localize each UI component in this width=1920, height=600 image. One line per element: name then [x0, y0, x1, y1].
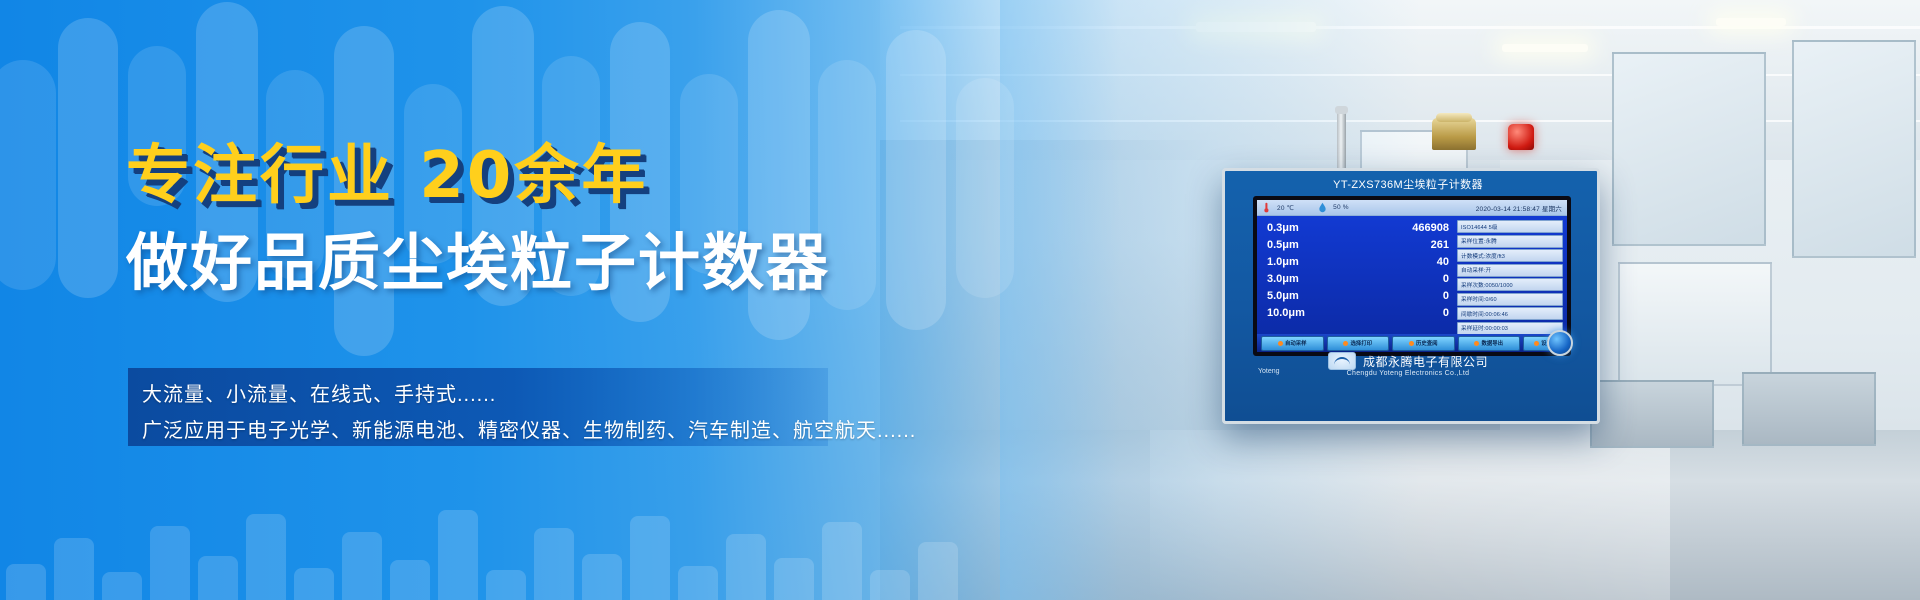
button-label: 数据导出	[1481, 339, 1503, 347]
corridor-window	[1792, 40, 1916, 258]
list-item: 采样延时:00:00:03	[1457, 322, 1563, 335]
floor-vent	[1742, 372, 1876, 446]
particle-size: 3.0μm	[1267, 273, 1299, 285]
subtitle-line-1: 大流量、小流量、在线式、手持式......	[142, 378, 496, 407]
param-text: 计数模式:浓度/ft3	[1461, 252, 1505, 260]
thermometer-icon	[1262, 202, 1271, 213]
subtitle-line-2: 广泛应用于电子光学、新能源电池、精密仪器、生物制药、汽车制造、航空航天.....…	[142, 414, 916, 443]
particle-count: 466908	[1412, 222, 1449, 234]
orange-dot-icon	[1343, 341, 1348, 346]
sensor-probe-tip-icon	[1335, 106, 1348, 114]
button-label: 历史查阅	[1416, 339, 1438, 347]
decorative-equalizer	[0, 480, 1000, 600]
table-row: 3.0μm 0	[1267, 273, 1449, 290]
param-text: 采样次数:0050/1000	[1461, 281, 1513, 289]
button-label: 选择打印	[1350, 339, 1372, 347]
particle-size: 10.0μm	[1267, 307, 1305, 319]
device-parameter-panel: ISO14644 5级 采样位置:永腾 计数模式:浓度/ft3 自动采样:开 采…	[1455, 216, 1567, 334]
humidity-value: 50 %	[1333, 204, 1349, 211]
headline-primary: 专注行业 20余年	[126, 124, 648, 216]
water-drop-icon	[1318, 202, 1327, 213]
data-export-button[interactable]: 数据导出	[1458, 336, 1521, 351]
list-item: ISO14644 5级	[1457, 220, 1563, 233]
param-text: 自动采样:开	[1461, 266, 1491, 274]
list-item: 采样次数:0050/1000	[1457, 278, 1563, 291]
ceiling-lamp-icon	[1502, 44, 1588, 52]
screen-status-bar: 20 ℃ 50 % 2020-03-14 21:58:47 星期六	[1257, 200, 1567, 216]
list-item: 采样时间:0/60	[1457, 293, 1563, 306]
param-text: 采样位置:永腾	[1461, 237, 1497, 245]
table-row: 10.0μm 0	[1267, 307, 1449, 324]
headline-secondary: 做好品质尘埃粒子计数器	[126, 212, 830, 302]
particle-count: 0	[1443, 290, 1449, 302]
particle-count: 261	[1431, 239, 1449, 251]
table-row: 5.0μm 0	[1267, 290, 1449, 307]
history-button[interactable]: 历史查阅	[1392, 336, 1455, 351]
param-text: 采样时间:0/60	[1461, 295, 1497, 303]
red-alarm-lamp-icon	[1508, 124, 1534, 150]
floor-vent	[1590, 380, 1714, 448]
table-row: 0.5μm 261	[1267, 239, 1449, 256]
orange-dot-icon	[1409, 341, 1414, 346]
particle-size: 0.3μm	[1267, 222, 1299, 234]
corridor-panel	[1618, 262, 1772, 386]
auto-sample-button[interactable]: 自动采样	[1261, 336, 1324, 351]
orange-dot-icon	[1474, 341, 1479, 346]
table-row: 0.3μm 466908	[1267, 222, 1449, 239]
particle-count: 40	[1437, 256, 1449, 268]
particle-size: 0.5μm	[1267, 239, 1299, 251]
particle-count-table: 0.3μm 466908 0.5μm 261 1.0μm 40 3.0μm 0 …	[1257, 216, 1455, 334]
device-datetime: 2020-03-14 21:58:47 星期六	[1476, 203, 1562, 213]
particle-count: 0	[1443, 273, 1449, 285]
select-print-button[interactable]: 选择打印	[1327, 336, 1390, 351]
sensor-probe-icon	[1337, 110, 1346, 170]
param-text: 间歇时间:00:06:46	[1461, 310, 1508, 318]
device-screen[interactable]: 20 ℃ 50 % 2020-03-14 21:58:47 星期六 0.3μm …	[1253, 196, 1571, 356]
brand-name-cn: 成都永腾电子有限公司	[1363, 353, 1488, 370]
screen-body: 0.3μm 466908 0.5μm 261 1.0μm 40 3.0μm 0 …	[1257, 216, 1567, 334]
param-text: ISO14644 5级	[1461, 223, 1498, 231]
screen-button-bar: 自动采样 选择打印 历史查阅 数据导出 设置	[1257, 334, 1567, 352]
list-item: 自动采样:开	[1457, 264, 1563, 277]
temperature-value: 20 ℃	[1277, 204, 1294, 212]
list-item: 计数模式:浓度/ft3	[1457, 249, 1563, 262]
banner-stage: 专注行业 20余年 做好品质尘埃粒子计数器 大流量、小流量、在线式、手持式...…	[0, 0, 1920, 600]
param-text: 采样延时:00:00:03	[1461, 324, 1508, 332]
particle-size: 1.0μm	[1267, 256, 1299, 268]
button-label: 自动采样	[1285, 339, 1307, 347]
corridor-window	[1612, 52, 1766, 246]
particle-size: 5.0μm	[1267, 290, 1299, 302]
ceiling-lamp-icon	[1716, 18, 1786, 26]
table-row: 1.0μm 40	[1267, 256, 1449, 273]
device-model-title: YT-ZXS736M尘埃粒子计数器	[1222, 176, 1594, 192]
orange-dot-icon	[1278, 341, 1283, 346]
particle-count: 0	[1443, 307, 1449, 319]
list-item: 采样位置:永腾	[1457, 235, 1563, 248]
gold-connector-cap-icon	[1436, 113, 1472, 122]
list-item: 间歇时间:00:06:46	[1457, 307, 1563, 320]
yoteng-logo-icon	[1328, 352, 1356, 370]
orange-dot-icon	[1534, 341, 1539, 346]
power-led-icon[interactable]	[1547, 330, 1573, 356]
gold-connector-icon	[1432, 118, 1476, 150]
brand-name-en: Chengdu Yoteng Electronics Co.,Ltd	[1222, 370, 1594, 377]
